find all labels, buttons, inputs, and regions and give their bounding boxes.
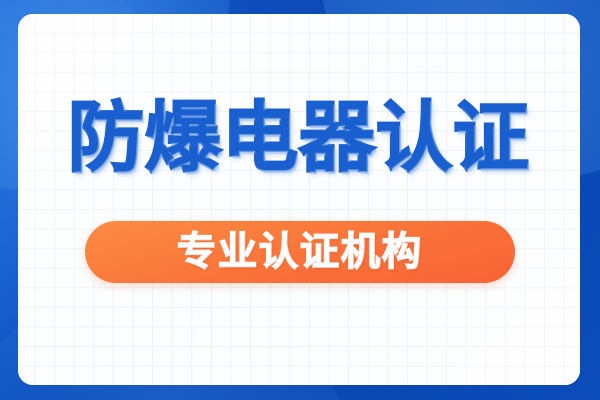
inner-grid-panel: 防爆电器认证 专业认证机构 <box>18 14 580 385</box>
graph-paper-grid <box>18 14 580 385</box>
status-badge: 专业认证机构 <box>85 221 515 283</box>
certification-banner: 防爆电器认证 专业认证机构 <box>0 0 600 400</box>
status-badge-label: 专业认证机构 <box>177 233 423 272</box>
page-title: 防爆电器认证 <box>18 100 580 176</box>
